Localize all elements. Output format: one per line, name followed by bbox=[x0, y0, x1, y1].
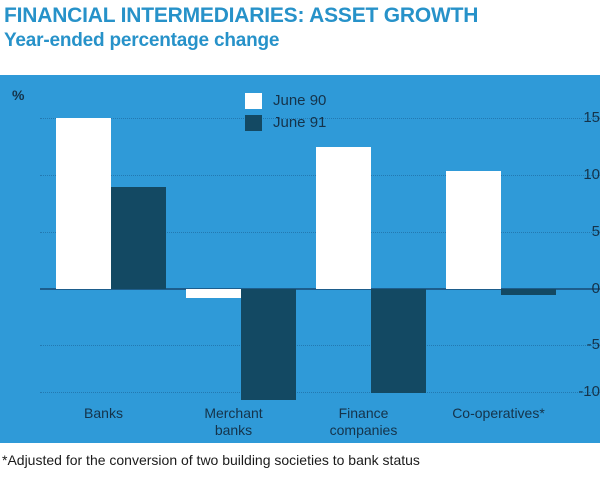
gridline-minus5 bbox=[40, 345, 600, 346]
y-axis-tick-5: 5 bbox=[566, 225, 600, 239]
footnote: *Adjusted for the conversion of two buil… bbox=[2, 452, 598, 469]
bar-finance-companies-june90 bbox=[316, 147, 371, 289]
gridline-minus10 bbox=[40, 392, 600, 393]
bar-cooperatives-june91 bbox=[501, 289, 556, 295]
legend-swatch-june90 bbox=[245, 93, 262, 109]
y-axis-unit-label: % bbox=[12, 87, 24, 103]
page-subtitle: Year-ended percentage change bbox=[4, 29, 600, 52]
x-axis-label-finance-companies-line2: companies bbox=[301, 422, 426, 439]
x-axis-label-cooperatives: Co-operatives* bbox=[431, 405, 566, 422]
x-axis-label-finance-companies-line1: Finance bbox=[301, 405, 426, 422]
x-axis-label-banks: Banks bbox=[41, 405, 166, 422]
y-axis-tick-10: 10 bbox=[566, 168, 600, 182]
x-axis-label-finance-companies: Finance companies bbox=[301, 405, 426, 439]
legend-label-june90: June 90 bbox=[273, 93, 326, 109]
chart-panel: % June 90 bbox=[0, 75, 600, 443]
x-axis-label-merchant-banks-line2: banks bbox=[171, 422, 296, 439]
header: FINANCIAL INTERMEDIARIES: ASSET GROWTH Y… bbox=[0, 0, 600, 52]
chart-page: FINANCIAL INTERMEDIARIES: ASSET GROWTH Y… bbox=[0, 0, 600, 487]
legend-item-june90: June 90 bbox=[245, 91, 326, 110]
y-axis-tick-15: 15 bbox=[566, 111, 600, 125]
legend-label-june91: June 91 bbox=[273, 115, 326, 131]
bar-finance-companies-june91 bbox=[371, 289, 426, 393]
bar-merchant-banks-june91 bbox=[241, 289, 296, 400]
legend: June 90 June 91 bbox=[245, 91, 326, 135]
bar-cooperatives-june90 bbox=[446, 171, 501, 289]
x-axis-label-merchant-banks-line1: Merchant bbox=[171, 405, 296, 422]
y-axis-tick-minus10: -10 bbox=[566, 385, 600, 399]
y-axis-tick-0: 0 bbox=[566, 282, 600, 296]
x-axis-label-cooperatives-line1: Co-operatives* bbox=[452, 405, 545, 421]
bar-banks-june91 bbox=[111, 187, 166, 289]
x-axis-label-banks-line1: Banks bbox=[84, 405, 123, 421]
y-axis-tick-minus5: -5 bbox=[566, 338, 600, 352]
bar-banks-june90 bbox=[56, 118, 111, 289]
legend-swatch-june91 bbox=[245, 115, 262, 131]
legend-item-june91: June 91 bbox=[245, 113, 326, 132]
bar-merchant-banks-june90 bbox=[186, 289, 241, 298]
page-title: FINANCIAL INTERMEDIARIES: ASSET GROWTH bbox=[4, 4, 600, 28]
plot-area: June 90 June 91 Banks Merchant banks Fin… bbox=[40, 75, 600, 443]
x-axis-label-merchant-banks: Merchant banks bbox=[171, 405, 296, 439]
